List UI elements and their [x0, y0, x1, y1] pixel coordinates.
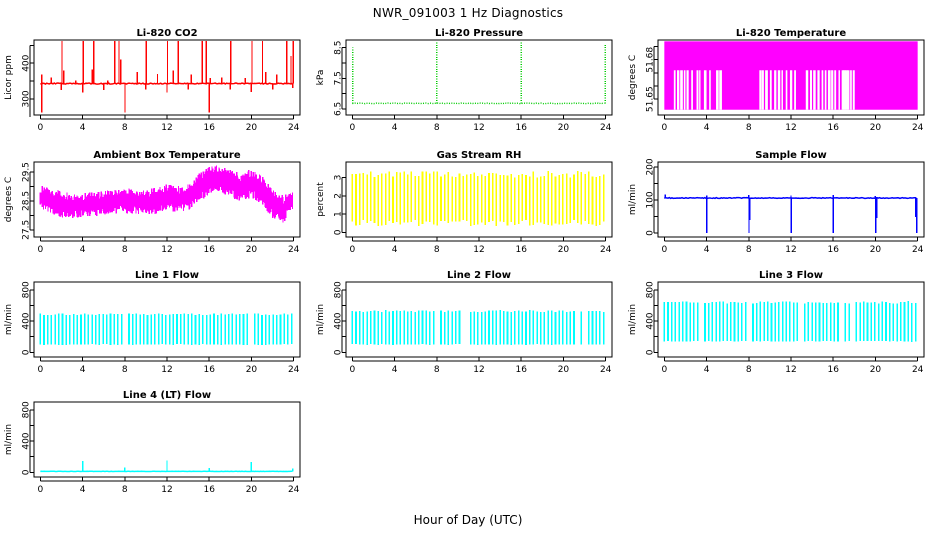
x-tick-label: 8	[122, 365, 128, 375]
figure-x-axis-label: Hour of Day (UTC)	[0, 513, 936, 527]
x-tick-label: 24	[600, 245, 612, 255]
x-tick-label: 0	[37, 485, 43, 495]
x-tick-label: 12	[161, 365, 172, 375]
x-tick-label: 16	[515, 123, 527, 133]
plot-data-line-3-flow	[664, 301, 915, 342]
x-tick-label: 8	[746, 123, 752, 133]
y-axis-label: kPa	[316, 70, 326, 86]
y-axis-label: degrees C	[628, 55, 638, 100]
panel-title: Ambient Box Temperature	[93, 150, 240, 161]
panel-title: Line 1 Flow	[135, 270, 199, 281]
x-tick-label: 20	[558, 365, 570, 375]
x-tick-label: 24	[288, 123, 300, 133]
x-tick-label: 4	[704, 123, 710, 133]
x-tick-label: 8	[746, 245, 752, 255]
x-tick-label: 20	[246, 123, 258, 133]
x-tick-label: 20	[246, 245, 258, 255]
x-tick-label: 0	[37, 365, 43, 375]
plot-data-sample-flow	[664, 195, 916, 233]
x-tick-label: 8	[122, 485, 128, 495]
x-tick-label: 12	[785, 245, 796, 255]
x-tick-label: 16	[827, 123, 839, 133]
x-tick-label: 24	[912, 123, 924, 133]
panel-ambient-box-temperature: Ambient Box Temperature0481216202427.528…	[0, 150, 312, 270]
y-axis-label: ml/min	[4, 304, 14, 335]
x-tick-label: 4	[704, 365, 710, 375]
x-tick-label: 4	[392, 245, 398, 255]
x-tick-label: 0	[661, 245, 667, 255]
x-tick-label: 12	[473, 123, 484, 133]
x-tick-label: 8	[122, 123, 128, 133]
x-tick-label: 16	[203, 123, 215, 133]
x-tick-label: 24	[288, 365, 300, 375]
x-tick-label: 24	[600, 123, 612, 133]
x-tick-label: 20	[558, 123, 570, 133]
panel-line-4-lt-flow: Line 4 (LT) Flow048121620240400800ml/min	[0, 390, 312, 510]
x-tick-label: 4	[80, 485, 86, 495]
panel-title: Line 3 Flow	[759, 270, 823, 281]
x-tick-label: 8	[434, 123, 440, 133]
y-axis-label: ml/min	[4, 424, 14, 455]
x-tick-label: 16	[515, 365, 527, 375]
x-tick-label: 12	[473, 365, 484, 375]
x-tick-label: 24	[912, 245, 924, 255]
panel-title: Sample Flow	[755, 150, 827, 161]
x-tick-label: 12	[785, 123, 796, 133]
x-tick-label: 16	[203, 245, 215, 255]
x-tick-label: 4	[80, 365, 86, 375]
x-tick-label: 16	[827, 245, 839, 255]
plot-data-line-1-flow	[40, 313, 291, 345]
panel-sample-flow: Sample Flow048121620240100200ml/min	[624, 150, 936, 270]
x-tick-label: 0	[349, 245, 355, 255]
x-tick-label: 12	[161, 485, 172, 495]
x-tick-label: 20	[870, 365, 882, 375]
plot-data-ambient-box-temperature	[40, 165, 292, 222]
plot-data-li820-pressure	[352, 42, 605, 104]
panel-li820-temperature: Li-820 Temperature0481216202451.6551.68d…	[624, 28, 936, 148]
y-axis-label: ml/min	[628, 184, 638, 215]
x-tick-label: 8	[434, 245, 440, 255]
figure-title: NWR_091003 1 Hz Diagnostics	[0, 6, 936, 20]
panel-li820-pressure: Li-820 Pressure048121620246.57.58.5kPa	[312, 28, 624, 148]
x-tick-label: 24	[288, 485, 300, 495]
x-tick-label: 24	[288, 245, 300, 255]
x-tick-label: 24	[912, 365, 924, 375]
x-tick-label: 16	[515, 245, 527, 255]
panel-title: Li-820 CO2	[136, 28, 197, 39]
panel-gas-stream-rh: Gas Stream RH048121620240123percent	[312, 150, 624, 270]
x-tick-label: 8	[746, 365, 752, 375]
x-tick-label: 0	[661, 365, 667, 375]
diagnostics-figure: NWR_091003 1 Hz Diagnostics Li-820 CO204…	[0, 0, 936, 540]
panel-line-3-flow: Line 3 Flow048121620240400800ml/min	[624, 270, 936, 390]
x-tick-label: 8	[434, 365, 440, 375]
panel-title: Li-820 Temperature	[736, 28, 846, 39]
x-tick-label: 0	[37, 123, 43, 133]
panel-li820-co2: Li-820 CO204812162024300400Licor ppm	[0, 28, 312, 148]
x-tick-label: 0	[349, 365, 355, 375]
panel-title: Line 4 (LT) Flow	[123, 390, 211, 401]
x-tick-label: 20	[870, 123, 882, 133]
x-tick-label: 4	[392, 365, 398, 375]
x-tick-label: 4	[80, 245, 86, 255]
y-axis-label: Licor ppm	[4, 55, 14, 100]
x-tick-label: 16	[827, 365, 839, 375]
panel-title: Gas Stream RH	[437, 150, 522, 161]
x-tick-label: 16	[203, 365, 215, 375]
y-axis-label: percent	[316, 182, 326, 217]
x-tick-label: 4	[392, 123, 398, 133]
panel-title: Li-820 Pressure	[435, 28, 523, 39]
panel-line-2-flow: Line 2 Flow048121620240400800ml/min	[312, 270, 624, 390]
y-axis-label: ml/min	[628, 304, 638, 335]
y-axis-label: ml/min	[316, 304, 326, 335]
x-tick-label: 12	[161, 245, 172, 255]
x-tick-label: 20	[246, 365, 258, 375]
x-tick-label: 12	[161, 123, 172, 133]
plot-data-li820-co2	[40, 41, 293, 112]
panel-title: Line 2 Flow	[447, 270, 511, 281]
x-tick-label: 4	[704, 245, 710, 255]
x-tick-label: 0	[661, 123, 667, 133]
x-tick-label: 20	[246, 485, 258, 495]
x-tick-label: 16	[203, 485, 215, 495]
x-tick-label: 0	[349, 123, 355, 133]
plot-data-line-2-flow	[352, 310, 603, 345]
x-tick-label: 4	[80, 123, 86, 133]
x-tick-label: 24	[600, 365, 612, 375]
panel-line-1-flow: Line 1 Flow048121620240400800ml/min	[0, 270, 312, 390]
x-tick-label: 12	[785, 365, 796, 375]
plot-data-line-4-lt-flow	[40, 460, 292, 471]
x-tick-label: 8	[122, 245, 128, 255]
x-tick-label: 0	[37, 245, 43, 255]
x-tick-label: 20	[558, 245, 570, 255]
plot-data-gas-stream-rh	[352, 171, 603, 226]
y-axis-label: degrees C	[4, 177, 14, 222]
x-tick-label: 12	[473, 245, 484, 255]
x-tick-label: 20	[870, 245, 882, 255]
plot-data-li820-temperature	[664, 41, 917, 109]
